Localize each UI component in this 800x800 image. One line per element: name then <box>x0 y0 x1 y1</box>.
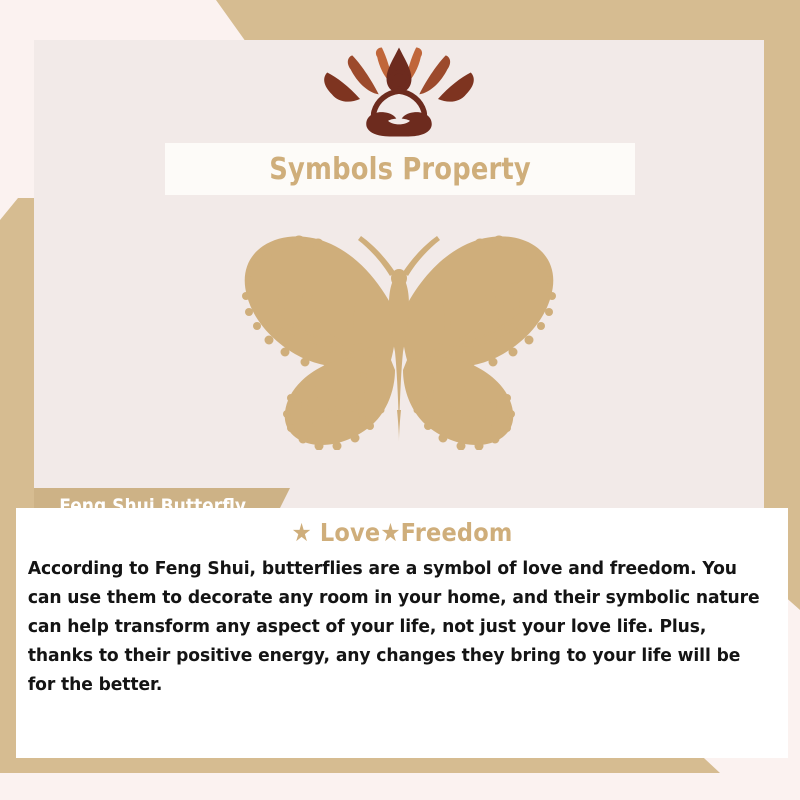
butterfly-icon <box>219 220 579 450</box>
lotus-meditation-icon <box>304 46 494 138</box>
content-subheading: ★ Love★Freedom <box>55 508 750 547</box>
content-paragraph: According to Feng Shui, butterflies are … <box>16 555 776 700</box>
page-title: Symbols Property <box>269 152 531 187</box>
hero-illustration <box>34 220 764 455</box>
content-card: ★ Love★Freedom According to Feng Shui, b… <box>16 508 788 758</box>
gold-frame-top <box>0 0 800 42</box>
promo-banner: BUDDHA STONES Symbols Property <box>0 0 800 800</box>
title-banner: Symbols Property <box>165 143 635 195</box>
